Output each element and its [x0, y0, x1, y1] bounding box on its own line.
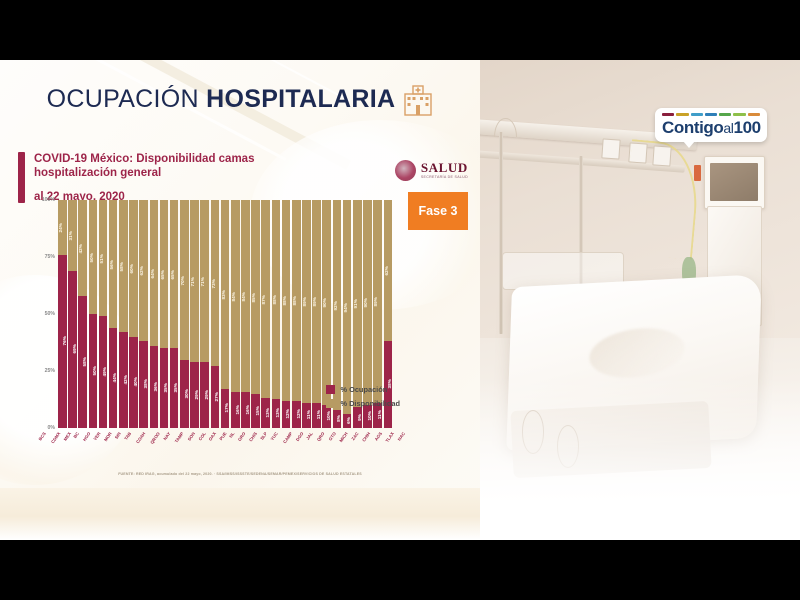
- bar-value-label: 12%: [296, 409, 301, 419]
- bar-segment-ocupacion: 12%: [282, 401, 291, 428]
- bar-column: 88%12%: [282, 200, 291, 428]
- bar-segment-ocupacion: 12%: [292, 401, 301, 428]
- bar-segment-disponibilidad: 71%: [200, 200, 209, 362]
- bar-value-label: 62%: [384, 266, 389, 276]
- bar-value-label: 70%: [180, 276, 185, 286]
- bar-column: 56%44%: [109, 200, 118, 428]
- bar-value-label: 30%: [184, 389, 189, 399]
- page-title: OCUPACIÓN HOSPITALARIA: [47, 85, 396, 114]
- logo-dash: [748, 113, 760, 116]
- bar-value-label: 71%: [200, 277, 205, 287]
- bar-value-label: 71%: [190, 277, 195, 287]
- bar-column: 84%16%: [241, 200, 250, 428]
- title-word-ocupacion: OCUPACIÓN: [47, 85, 199, 113]
- bar-column: 85%15%: [251, 200, 260, 428]
- bar-value-label: 12%: [285, 409, 290, 419]
- bar-column: 58%42%: [119, 200, 128, 428]
- bar-column: 87%13%: [261, 200, 270, 428]
- bar-segment-disponibilidad: 84%: [231, 200, 240, 392]
- bar-segment-disponibilidad: 62%: [139, 200, 148, 341]
- bar-value-label: 15%: [255, 406, 260, 416]
- bar-segment-ocupacion: 11%: [312, 403, 321, 428]
- bar-segment-ocupacion: 35%: [170, 348, 179, 428]
- bar-value-label: 94%: [343, 303, 348, 313]
- logo-word-100: 100: [734, 118, 761, 137]
- bar-value-label: 35%: [163, 383, 168, 393]
- bar-value-label: 56%: [109, 260, 114, 270]
- legend-item: % Disponibilidad: [326, 399, 400, 408]
- presentation-slide: OCUPACIÓN HOSPITALARIA: [0, 60, 480, 540]
- bar-segment-ocupacion: 44%: [109, 328, 118, 428]
- bar-value-label: 40%: [133, 377, 138, 387]
- bar-segment-disponibilidad: 87%: [261, 200, 270, 398]
- bar-value-label: 13%: [275, 408, 280, 418]
- bar-value-label: 13%: [265, 408, 270, 418]
- bar-value-label: 42%: [78, 244, 83, 254]
- bar-column: 73%27%: [211, 200, 220, 428]
- bar-column: 65%35%: [170, 200, 179, 428]
- screenshot-stage: OCUPACIÓN HOSPITALARIA: [0, 0, 800, 600]
- bar-value-label: 49%: [102, 367, 107, 377]
- bar-segment-disponibilidad: 64%: [150, 200, 159, 346]
- logo-dash: [691, 113, 703, 116]
- bar-column: 83%17%: [221, 200, 230, 428]
- y-axis-tick: 25%: [45, 368, 55, 374]
- bar-value-label: 92%: [333, 301, 338, 311]
- bar-segment-disponibilidad: 89%: [373, 200, 382, 403]
- contigo-al-100-logo: Contigoal100: [655, 108, 767, 142]
- bar-segment-ocupacion: 42%: [119, 332, 128, 428]
- bar-value-label: 73%: [211, 279, 216, 289]
- bar-segment-disponibilidad: 91%: [353, 200, 362, 407]
- bar-segment-disponibilidad: 84%: [241, 200, 250, 392]
- bar-value-label: 31%: [68, 231, 73, 241]
- bar-segment-disponibilidad: 71%: [190, 200, 199, 362]
- logo-color-dashes: [662, 113, 760, 116]
- iv-pole: [499, 132, 503, 334]
- legend-swatch: [326, 399, 335, 408]
- bar-segment-ocupacion: 15%: [251, 394, 260, 428]
- subtitle-texts: COVID-19 México: Disponibilidad camas ho…: [34, 152, 338, 203]
- bar-segment-disponibilidad: 94%: [343, 200, 352, 414]
- bar-column: 84%16%: [231, 200, 240, 428]
- bar-value-label: 91%: [353, 299, 358, 309]
- logo-dash: [662, 113, 674, 116]
- slide-subtitle: COVID-19 México: Disponibilidad camas ho…: [18, 152, 338, 203]
- patient-monitor: [704, 156, 765, 209]
- subtitle-accent-bar: [18, 152, 25, 203]
- logo-dash: [733, 113, 745, 116]
- bar-segment-ocupacion: 29%: [200, 362, 209, 428]
- salud-logo: SALUD SECRETARÍA DE SALUD: [395, 160, 468, 181]
- bar-value-label: 69%: [72, 344, 77, 354]
- salud-subtitle: SECRETARÍA DE SALUD: [421, 176, 468, 180]
- bar-segment-disponibilidad: 42%: [78, 200, 87, 296]
- bar-value-label: 64%: [150, 269, 155, 279]
- bar-segment-disponibilidad: 56%: [109, 200, 118, 328]
- bar-segment-ocupacion: 35%: [160, 348, 169, 428]
- bar-value-label: 84%: [241, 292, 246, 302]
- bar-segment-disponibilidad: 58%: [119, 200, 128, 332]
- bar-segment-disponibilidad: 89%: [312, 200, 321, 403]
- bar-segment-disponibilidad: 90%: [363, 200, 372, 405]
- bar-value-label: 44%: [112, 373, 117, 383]
- bar-column: 88%13%: [272, 200, 281, 428]
- logo-dash: [676, 113, 688, 116]
- bar-value-label: 8%: [336, 415, 341, 422]
- bar-segment-ocupacion: 6%: [343, 414, 352, 428]
- bar-value-label: 17%: [224, 403, 229, 413]
- wall-gas-valve: [694, 165, 700, 182]
- bar-value-label: 27%: [214, 392, 219, 402]
- bar-value-label: 65%: [160, 270, 165, 280]
- bar-segment-disponibilidad: 90%: [322, 200, 331, 405]
- bar-segment-ocupacion: 36%: [150, 346, 159, 428]
- bar-column: 88%12%: [292, 200, 301, 428]
- bar-column: 89%11%: [302, 200, 311, 428]
- logo-dash: [705, 113, 717, 116]
- bar-value-label: 88%: [292, 296, 297, 306]
- bar-value-label: 87%: [261, 295, 266, 305]
- bar-segment-ocupacion: 30%: [180, 360, 189, 428]
- bar-value-label: 29%: [194, 390, 199, 400]
- bar-column: 31%69%: [68, 200, 77, 428]
- bar-segment-disponibilidad: 85%: [251, 200, 260, 394]
- monitor-screen: [710, 163, 758, 201]
- bar-value-label: 90%: [363, 298, 368, 308]
- bar-value-label: 9%: [357, 414, 362, 421]
- mexico-seal-icon: [395, 160, 416, 181]
- title-word-hospitalaria: HOSPITALARIA: [206, 85, 395, 113]
- bar-value-label: 11%: [306, 410, 311, 419]
- bar-segment-ocupacion: 27%: [211, 366, 220, 428]
- logo-wordmark: Contigoal100: [662, 119, 760, 136]
- bar-value-label: 16%: [235, 405, 240, 415]
- y-axis-tick: 75%: [45, 254, 55, 260]
- bar-segment-ocupacion: 58%: [78, 296, 87, 428]
- bar-segment-disponibilidad: 60%: [129, 200, 138, 337]
- bar-segment-disponibilidad: 83%: [221, 200, 230, 389]
- bar-column: 42%58%: [78, 200, 87, 428]
- bar-value-label: 50%: [92, 366, 97, 376]
- bar-value-label: 84%: [231, 292, 236, 302]
- y-axis: 0%25%50%75%100%: [32, 200, 58, 428]
- bar-segment-disponibilidad: 92%: [333, 200, 342, 410]
- bar-value-label: 29%: [204, 390, 209, 400]
- bar-column: 71%29%: [190, 200, 199, 428]
- hospital-occupancy-chart: 0%25%50%75%100% 24%76%31%69%42%58%50%50%…: [6, 200, 406, 468]
- bar-value-label: 89%: [373, 297, 378, 307]
- legend-item: % Ocupación: [326, 385, 400, 394]
- bar-value-label: 51%: [99, 254, 104, 264]
- slide-title-row: OCUPACIÓN HOSPITALARIA: [0, 82, 480, 116]
- bar-segment-ocupacion: 16%: [241, 392, 250, 428]
- bar-column: 62%38%: [139, 200, 148, 428]
- bar-value-label: 50%: [89, 253, 94, 263]
- bar-segment-disponibilidad: 51%: [99, 200, 108, 316]
- legend-swatch: [326, 385, 335, 394]
- y-axis-tick: 50%: [45, 311, 55, 317]
- bar-segment-disponibilidad: 73%: [211, 200, 220, 366]
- legend-label: % Ocupación: [340, 385, 387, 394]
- bar-value-label: 89%: [312, 297, 317, 307]
- bar-segment-ocupacion: 76%: [58, 255, 67, 428]
- bar-value-label: 35%: [173, 383, 178, 393]
- y-axis-tick: 100%: [42, 197, 55, 203]
- bar-segment-disponibilidad: 65%: [160, 200, 169, 348]
- photo-bottom-fade: [480, 377, 800, 540]
- bar-value-label: 76%: [62, 336, 67, 346]
- bar-value-label: 6%: [346, 417, 351, 424]
- bar-value-label: 58%: [82, 357, 87, 367]
- bar-column: 24%76%: [58, 200, 67, 428]
- bar-value-label: 16%: [245, 405, 250, 415]
- bar-segment-ocupacion: 38%: [139, 341, 148, 428]
- wall-outlet-icon: [601, 139, 620, 160]
- bar-segment-disponibilidad: 88%: [292, 200, 301, 401]
- bar-segment-ocupacion: 13%: [272, 399, 281, 428]
- bar-value-label: 89%: [302, 297, 307, 307]
- bar-segment-disponibilidad: 88%: [272, 200, 281, 399]
- x-axis: BCSCDMXMEXBCHGOVERMORSINTABCOAHQROONAYTA…: [32, 430, 392, 460]
- salud-name: SALUD: [421, 161, 468, 174]
- logo-pointer: [683, 141, 695, 148]
- status-badge: Fase 3: [408, 192, 468, 230]
- bar-value-label: 65%: [170, 270, 175, 280]
- chart-legend: % Ocupación% Disponibilidad: [326, 385, 400, 413]
- bar-column: 70%30%: [180, 200, 189, 428]
- bar-column: 60%40%: [129, 200, 138, 428]
- logo-word-al: al: [723, 120, 733, 136]
- bar-value-label: 38%: [143, 379, 148, 389]
- bar-column: 89%11%: [312, 200, 321, 428]
- slide-bottom-band: [0, 488, 480, 540]
- bar-column: 50%50%: [89, 200, 98, 428]
- bar-value-label: 88%: [272, 295, 277, 305]
- logo-word-contigo: Contigo: [662, 118, 723, 137]
- bar-column: 51%49%: [99, 200, 108, 428]
- bar-value-label: 24%: [58, 223, 63, 233]
- bar-segment-disponibilidad: 50%: [89, 200, 98, 314]
- bar-value-label: 11%: [316, 410, 321, 419]
- bar-value-label: 58%: [119, 262, 124, 272]
- salud-wordmark: SALUD SECRETARÍA DE SALUD: [421, 161, 468, 180]
- bar-segment-ocupacion: 13%: [261, 398, 270, 428]
- subtitle-main-text: COVID-19 México: Disponibilidad camas ho…: [34, 152, 338, 180]
- hospital-building-icon: [403, 82, 433, 116]
- bar-value-label: 36%: [153, 382, 158, 392]
- bar-segment-ocupacion: 50%: [89, 314, 98, 428]
- chart-source-footnote: FUENTE: RED IRAG, acumulado del 22 mayo,…: [0, 472, 480, 476]
- bar-column: 64%36%: [150, 200, 159, 428]
- bar-value-label: 42%: [123, 375, 128, 385]
- bar-segment-ocupacion: 29%: [190, 362, 199, 428]
- bar-column: 65%35%: [160, 200, 169, 428]
- bar-segment-disponibilidad: 31%: [68, 200, 77, 271]
- bar-segment-ocupacion: 49%: [99, 316, 108, 428]
- bar-segment-disponibilidad: 24%: [58, 200, 67, 255]
- bar-segment-disponibilidad: 70%: [180, 200, 189, 360]
- bar-value-label: 60%: [129, 264, 134, 274]
- bar-value-label: 85%: [251, 293, 256, 303]
- bar-segment-disponibilidad: 65%: [170, 200, 179, 348]
- bar-segment-disponibilidad: 62%: [384, 200, 393, 341]
- bar-segment-ocupacion: 69%: [68, 271, 77, 428]
- legend-label: % Disponibilidad: [340, 399, 400, 408]
- bar-value-label: 62%: [139, 266, 144, 276]
- bar-segment-ocupacion: 40%: [129, 337, 138, 428]
- bar-segment-ocupacion: 16%: [231, 392, 240, 428]
- bar-segment-ocupacion: 17%: [221, 389, 230, 428]
- bar-value-label: 83%: [221, 290, 226, 300]
- bar-segment-disponibilidad: 89%: [302, 200, 311, 403]
- bar-value-label: 90%: [322, 298, 327, 308]
- bar-value-label: 88%: [282, 296, 287, 306]
- logo-dash: [719, 113, 731, 116]
- bar-segment-disponibilidad: 88%: [282, 200, 291, 401]
- bar-column: 71%29%: [200, 200, 209, 428]
- bar-segment-ocupacion: 11%: [302, 403, 311, 428]
